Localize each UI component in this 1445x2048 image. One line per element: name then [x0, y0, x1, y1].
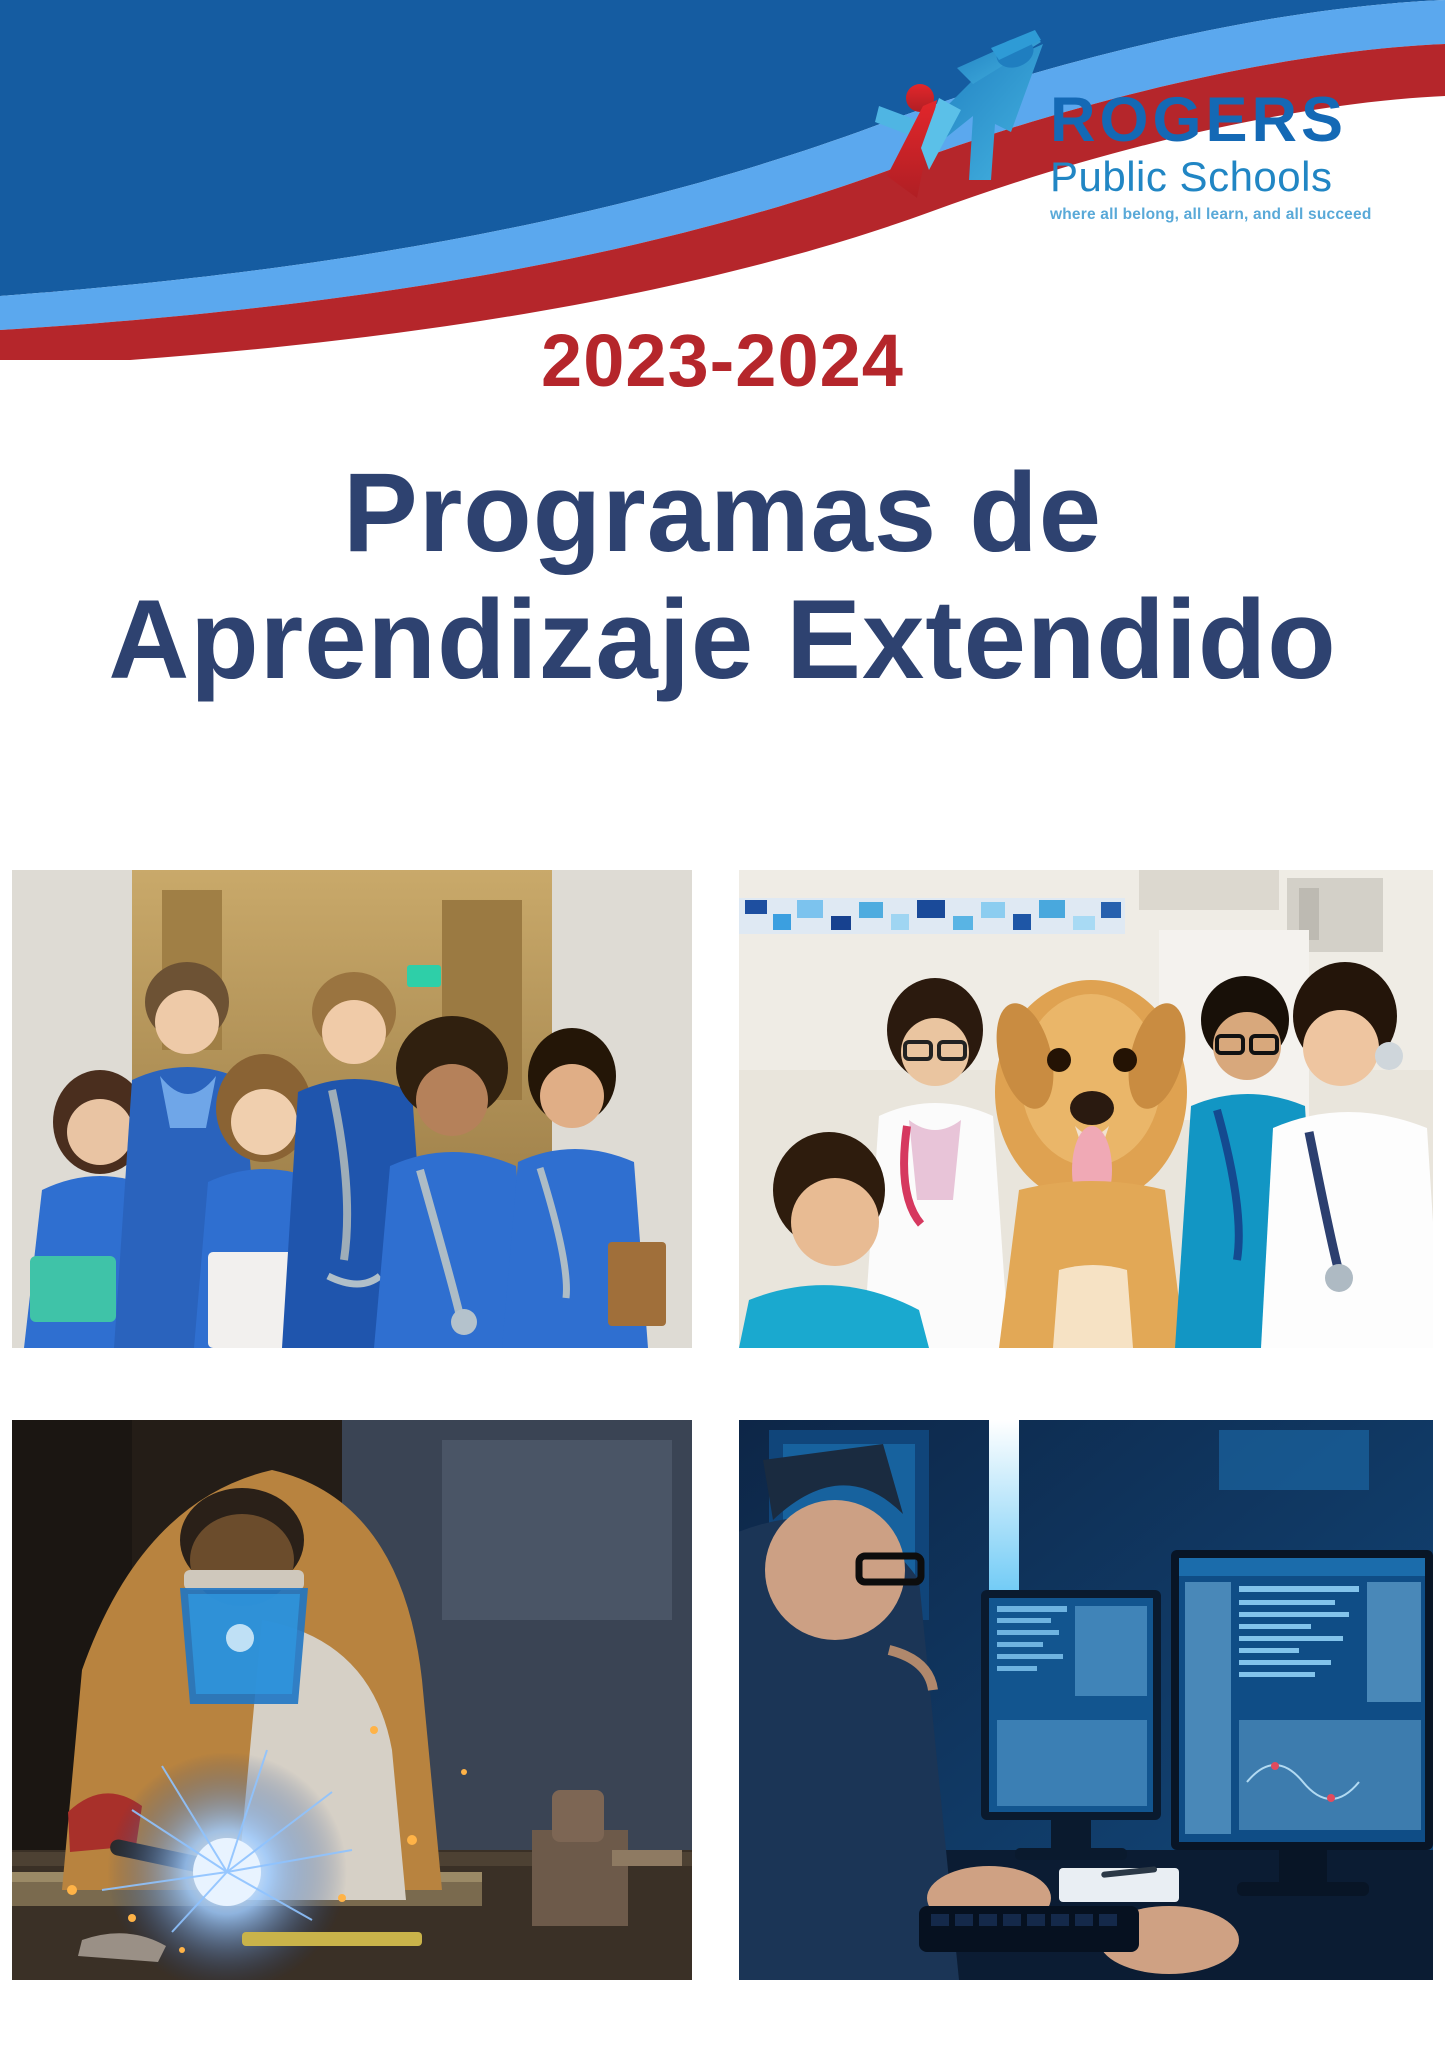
- district-logo: ROGERS Public Schools where all belong, …: [865, 20, 1425, 255]
- photo-health-science-art: [12, 870, 692, 1348]
- photo-grid: [12, 870, 1433, 1980]
- photo-veterinary-science-art: [739, 870, 1433, 1348]
- logo-tagline: where all belong, all learn, and all suc…: [1050, 206, 1425, 224]
- photo-welding-art: [12, 1420, 692, 1980]
- school-year-heading: 2023-2024: [0, 318, 1445, 403]
- photo-information-technology-art: [739, 1420, 1433, 1980]
- photo-health-science: [12, 870, 692, 1348]
- logo-mark-shapes: [865, 28, 1050, 213]
- logo-word-rogers: ROGERS: [1050, 90, 1425, 152]
- tile-strip: [739, 898, 1125, 934]
- logo-word-public-schools: Public Schools: [1050, 154, 1425, 199]
- photo-veterinary-science: [739, 870, 1433, 1348]
- page-title-line-2: Aprendizaje Extendido: [0, 577, 1445, 704]
- page-title: Programas de Aprendizaje Extendido: [0, 450, 1445, 703]
- graduate-figure-logo-mark-icon: [865, 28, 1050, 213]
- page-title-line-1: Programas de: [0, 450, 1445, 577]
- logo-wordmark: ROGERS Public Schools where all belong, …: [1050, 90, 1425, 224]
- photo-information-technology: [739, 1420, 1433, 1980]
- photo-welding: [12, 1420, 692, 1980]
